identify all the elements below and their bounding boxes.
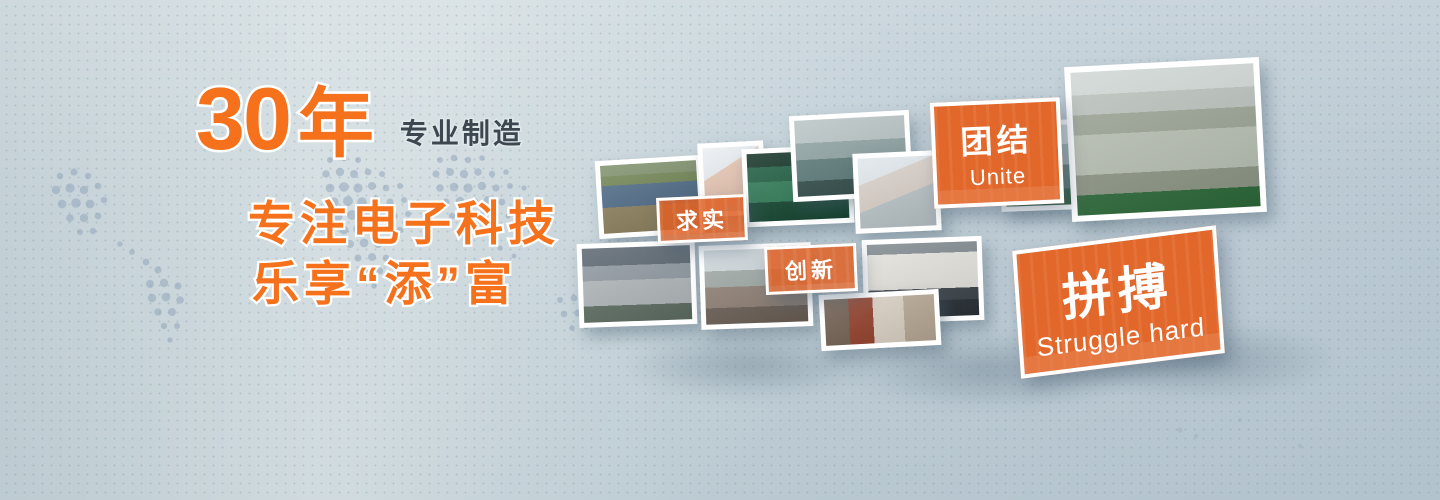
headline-line-years: 30 年 专业制造 <box>196 74 756 160</box>
plate-label-cn: 创新 <box>784 252 837 286</box>
plate-label-en: Unite <box>969 163 1026 191</box>
photo-warehouse-corridor <box>819 289 942 351</box>
tagline-professional-manufacturing: 专业制造 <box>400 112 524 160</box>
plate-label-cn: 团结 <box>959 114 1033 163</box>
plate-pinbo-struggle-hard: 拼搏 Struggle hard <box>1012 225 1225 378</box>
promo-banner: 30 年 专业制造 专注电子科技 乐享“添”富 <box>0 0 1440 500</box>
photo-smt-placement-machines <box>1064 57 1267 222</box>
years-number: 30 <box>196 79 290 160</box>
headline-line-three: 乐享“添”富 <box>252 254 756 314</box>
headline-line-two: 专注电子科技 <box>248 194 756 254</box>
years-unit: 年 <box>298 90 374 160</box>
headline-block: 30 年 专业制造 专注电子科技 乐享“添”富 <box>196 74 756 314</box>
photo-qc-inspection-staff <box>852 150 941 234</box>
plate-chuangxin: 创新 <box>764 243 858 295</box>
plate-tuanjie-unite: 团结 Unite <box>930 97 1064 209</box>
